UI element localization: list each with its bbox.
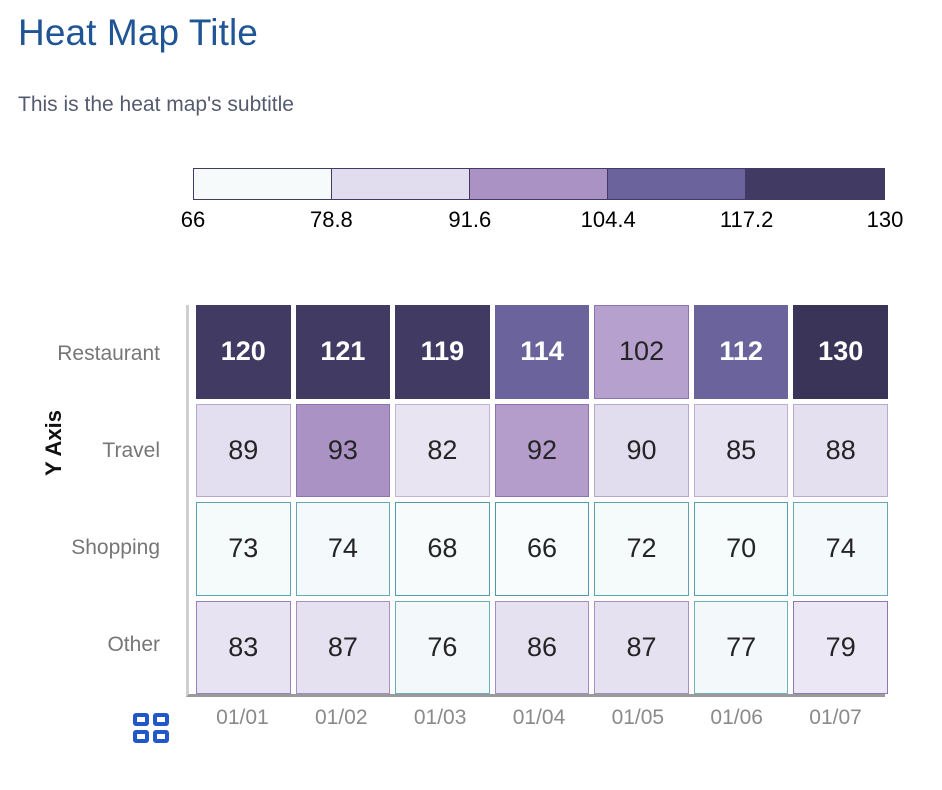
x-tick-0: 01/01 (193, 706, 292, 730)
heatmap-cell[interactable]: 70 (694, 502, 789, 596)
legend-tick-5: 130 (867, 207, 904, 233)
color-legend: 6678.891.6104.4117.2130 (193, 168, 885, 237)
grid-square-top-right (153, 713, 169, 726)
chart-subtitle: This is the heat map's subtitle (18, 93, 294, 117)
legend-color-bands (193, 168, 885, 200)
heatmap-cell[interactable]: 77 (694, 601, 789, 695)
legend-tick-3: 104.4 (581, 207, 636, 233)
heatmap-cell[interactable]: 92 (495, 404, 590, 498)
heatmap-cell[interactable]: 82 (395, 404, 490, 498)
grid-view-icon[interactable] (133, 713, 169, 743)
heatmap-cell[interactable]: 74 (296, 502, 391, 596)
heatmap-cell[interactable]: 112 (694, 305, 789, 399)
heatmap-cell[interactable]: 68 (395, 502, 490, 596)
heatmap-cell[interactable]: 72 (594, 502, 689, 596)
heatmap-cell[interactable]: 119 (395, 305, 490, 399)
heatmap-cell[interactable]: 121 (296, 305, 391, 399)
heatmap-cell[interactable]: 74 (793, 502, 888, 596)
heatmap-cell[interactable]: 90 (594, 404, 689, 498)
y-tick-travel: Travel (0, 402, 172, 499)
legend-tick-1: 78.8 (310, 207, 353, 233)
y-axis-tick-labels: RestaurantTravelShoppingOther (0, 305, 172, 694)
grid-square-bottom-right (153, 730, 169, 743)
heatmap-cell[interactable]: 102 (594, 305, 689, 399)
legend-tick-2: 91.6 (448, 207, 491, 233)
heatmap-cell[interactable]: 87 (296, 601, 391, 695)
x-tick-4: 01/05 (588, 706, 687, 730)
heatmap-cell[interactable]: 73 (196, 502, 291, 596)
x-axis-tick-labels: 01/0101/0201/0301/0401/0501/0601/07 (193, 706, 885, 730)
x-tick-1: 01/02 (292, 706, 391, 730)
heatmap-cell[interactable]: 79 (793, 601, 888, 695)
heatmap-cell[interactable]: 114 (495, 305, 590, 399)
heatmap-grid: 1201211191141021121308993829290858873746… (196, 305, 888, 694)
y-tick-shopping: Shopping (0, 500, 172, 597)
heatmap-cell[interactable]: 130 (793, 305, 888, 399)
legend-band-2 (331, 168, 471, 200)
heatmap-cell[interactable]: 93 (296, 404, 391, 498)
legend-band-5 (745, 168, 885, 200)
legend-tick-4: 117.2 (720, 207, 773, 233)
legend-band-4 (607, 168, 747, 200)
heatmap-cell[interactable]: 86 (495, 601, 590, 695)
grid-square-bottom-left (133, 730, 149, 743)
heatmap-plot-area: 1201211191141021121308993829290858873746… (186, 305, 885, 697)
y-tick-other: Other (0, 597, 172, 694)
heatmap-cell[interactable]: 66 (495, 502, 590, 596)
heatmap-cell[interactable]: 120 (196, 305, 291, 399)
page-title: Heat Map Title (18, 12, 258, 54)
heatmap-cell[interactable]: 76 (395, 601, 490, 695)
x-tick-3: 01/04 (490, 706, 589, 730)
legend-band-3 (469, 168, 609, 200)
heatmap-cell[interactable]: 89 (196, 404, 291, 498)
x-tick-2: 01/03 (391, 706, 490, 730)
legend-tick-labels: 6678.891.6104.4117.2130 (193, 207, 885, 237)
x-tick-6: 01/07 (786, 706, 885, 730)
x-tick-5: 01/06 (687, 706, 786, 730)
y-tick-restaurant: Restaurant (0, 305, 172, 402)
heatmap-cell[interactable]: 83 (196, 601, 291, 695)
legend-tick-0: 66 (181, 207, 205, 233)
grid-square-top-left (133, 713, 149, 726)
heatmap-cell[interactable]: 85 (694, 404, 789, 498)
heatmap-cell[interactable]: 87 (594, 601, 689, 695)
heatmap-cell[interactable]: 88 (793, 404, 888, 498)
legend-band-1 (193, 168, 333, 200)
